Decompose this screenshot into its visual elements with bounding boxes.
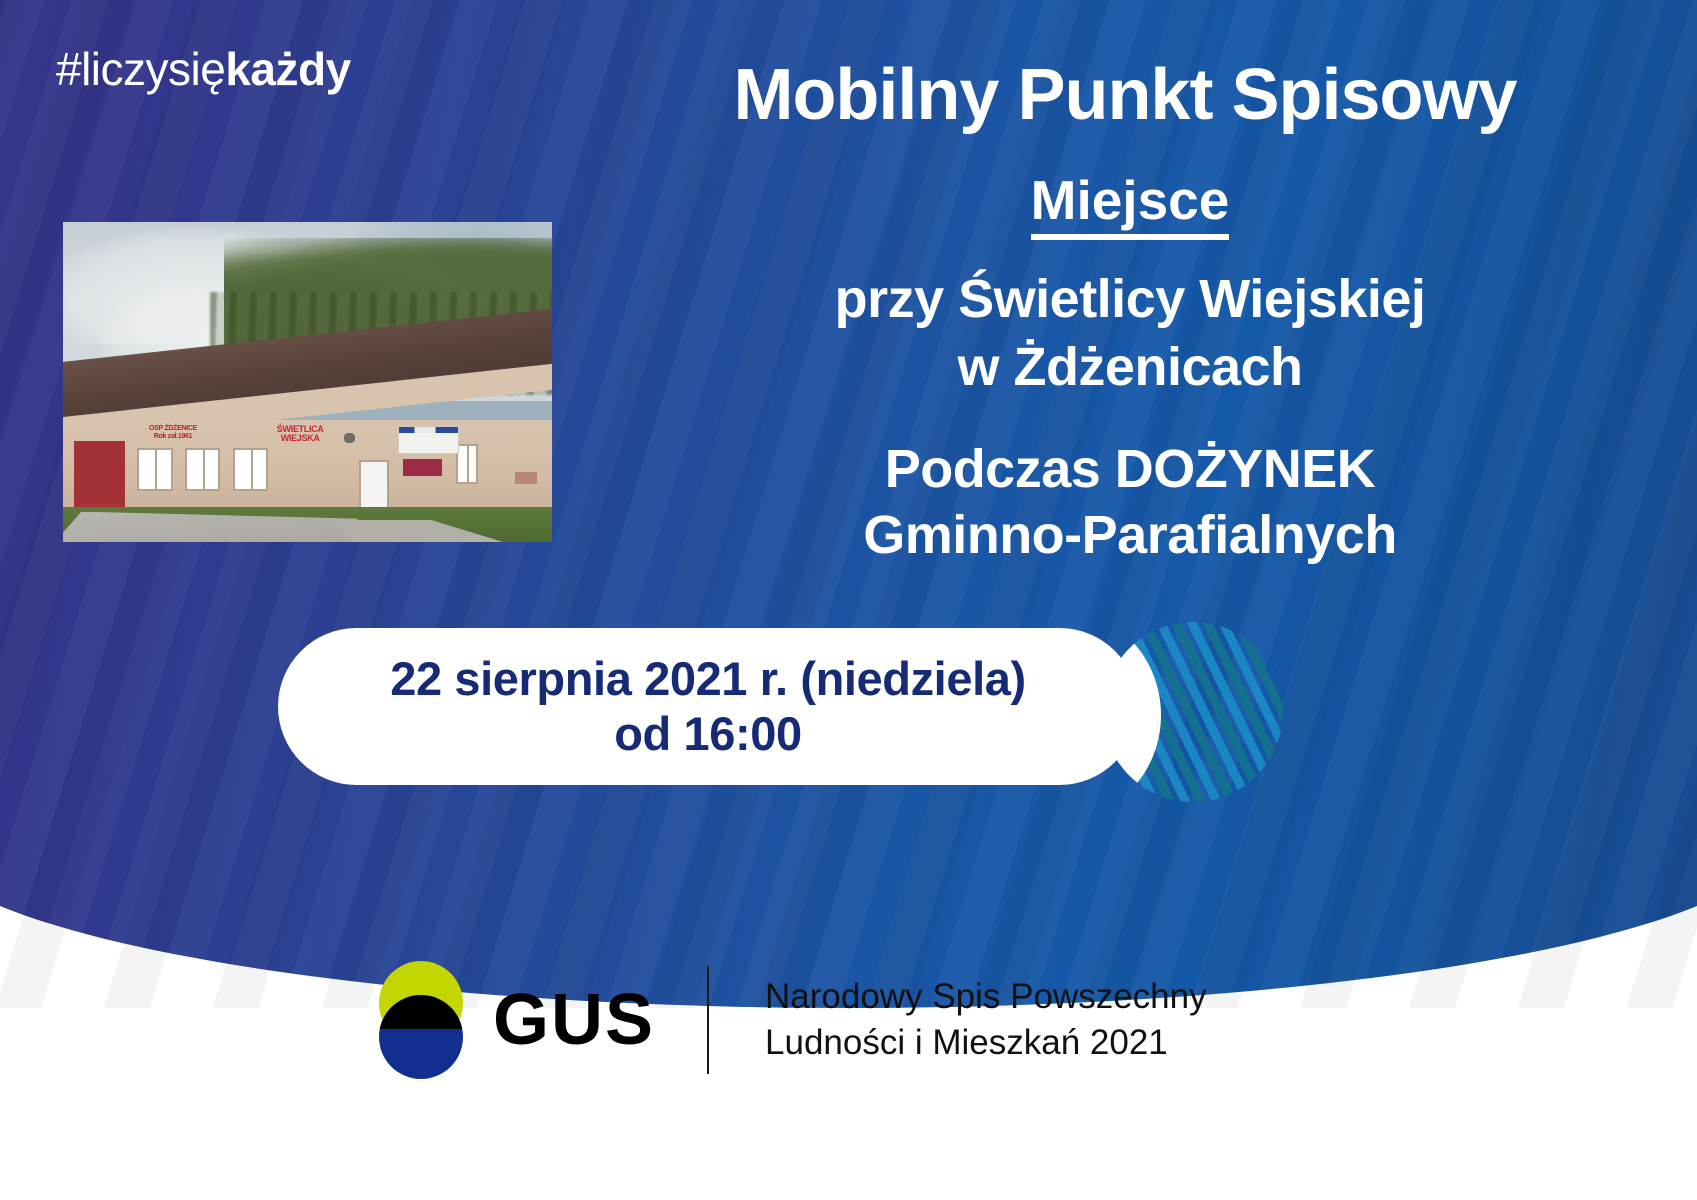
subtitle-container: Miejsce [600,170,1660,240]
event-date-text: 22 sierpnia 2021 r. (niedziela) [390,652,1025,706]
photo-small-sign [515,472,537,485]
campaign-hashtag: #liczysiękażdy [56,42,351,96]
photo-eu-plaque [398,426,459,455]
occasion-line-2: Gminno-Parafialnych [600,503,1660,569]
event-time-text: od 16:00 [614,707,802,761]
occasion-line-1: Podczas DOŻYNEK [600,437,1660,503]
page-title: Mobilny Punkt Spisowy [580,58,1670,134]
venue-address-line-1: przy Świetlicy Wiejskiej [600,266,1660,334]
census-campaign-name: Narodowy Spis Powszechny Ludności i Mies… [765,974,1207,1066]
census-campaign-line-1: Narodowy Spis Powszechny [765,974,1207,1020]
hashtag-bold-part: każdy [225,43,350,95]
section-heading-place: Miejsce [1031,170,1230,240]
hashtag-light-part: #liczysię [56,43,225,95]
photo-wall-lamp [344,433,355,443]
photo-window [456,444,478,484]
event-date-badge: 22 sierpnia 2021 r. (niedziela) od 16:00 [278,628,1138,785]
gus-logo-icon [375,961,471,1079]
photo-window [185,448,220,491]
footer-divider [707,966,709,1074]
venue-address-line-2: w Żdżenicach [600,334,1660,402]
photo-plaque-banner [399,427,458,434]
photo-building-sign-text: ŚWIETLICA WIEJSKA [273,425,327,443]
photo-osp-sign-text: OSP ŻDŻENICE Rok zał.1961 [146,425,200,441]
census-campaign-line-2: Ludności i Mieszkań 2021 [765,1020,1207,1066]
footer-branding: GUS Narodowy Spis Powszechny Ludności i … [375,940,1275,1100]
event-occasion: Podczas DOŻYNEK Gminno-Parafialnych [600,437,1660,569]
gus-wordmark: GUS [493,984,655,1056]
photo-swietlica-plaque [403,459,442,477]
photo-red-garage-door [74,441,125,511]
photo-window [233,448,268,491]
venue-photo: OSP ŻDŻENICE Rok zał.1961 ŚWIETLICA WIEJ… [63,222,552,542]
photo-window [137,448,172,491]
venue-address: przy Świetlicy Wiejskiej w Żdżenicach [600,266,1660,401]
poster-canvas: #liczysiękażdy OSP ŻDŻENICE Rok zał.1961… [0,0,1697,1200]
